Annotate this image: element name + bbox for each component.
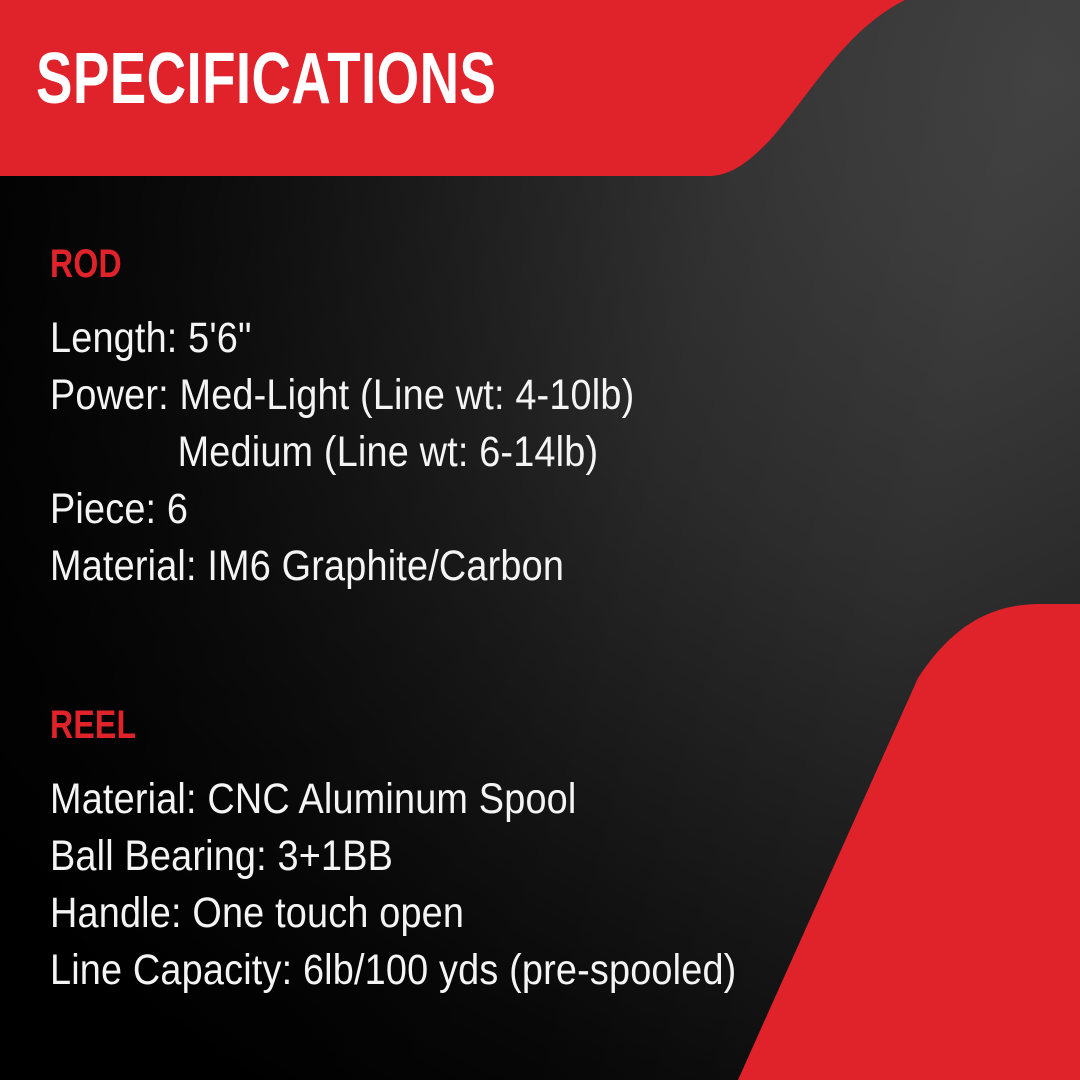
spec-line: Power: Med-Light (Line wt: 4-10lb) [50, 367, 895, 424]
spec-list-reel: Material: CNC Aluminum Spool Ball Bearin… [50, 771, 1010, 999]
specifications-card: SPECIFICATIONS ROD Length: 5'6" Power: M… [0, 0, 1080, 1080]
spec-section-rod: ROD Length: 5'6" Power: Med-Light (Line … [50, 244, 1010, 595]
spec-line: Line Capacity: 6lb/100 yds (pre-spooled) [50, 942, 895, 999]
spec-line: Length: 5'6" [50, 310, 895, 367]
spec-line: Piece: 6 [50, 481, 895, 538]
spec-line: Material: IM6 Graphite/Carbon [50, 538, 895, 595]
specs-content: ROD Length: 5'6" Power: Med-Light (Line … [50, 244, 1010, 999]
spec-line: Material: CNC Aluminum Spool [50, 771, 895, 828]
section-title-rod: ROD [50, 244, 818, 284]
spec-line: Medium (Line wt: 6-14lb) [50, 424, 895, 481]
section-title-reel: REEL [50, 705, 818, 745]
spec-line: Handle: One touch open [50, 885, 895, 942]
spec-list-rod: Length: 5'6" Power: Med-Light (Line wt: … [50, 310, 1010, 595]
page-title: SPECIFICATIONS [36, 42, 496, 116]
spec-section-reel: REEL Material: CNC Aluminum Spool Ball B… [50, 705, 1010, 999]
spec-line: Ball Bearing: 3+1BB [50, 828, 895, 885]
